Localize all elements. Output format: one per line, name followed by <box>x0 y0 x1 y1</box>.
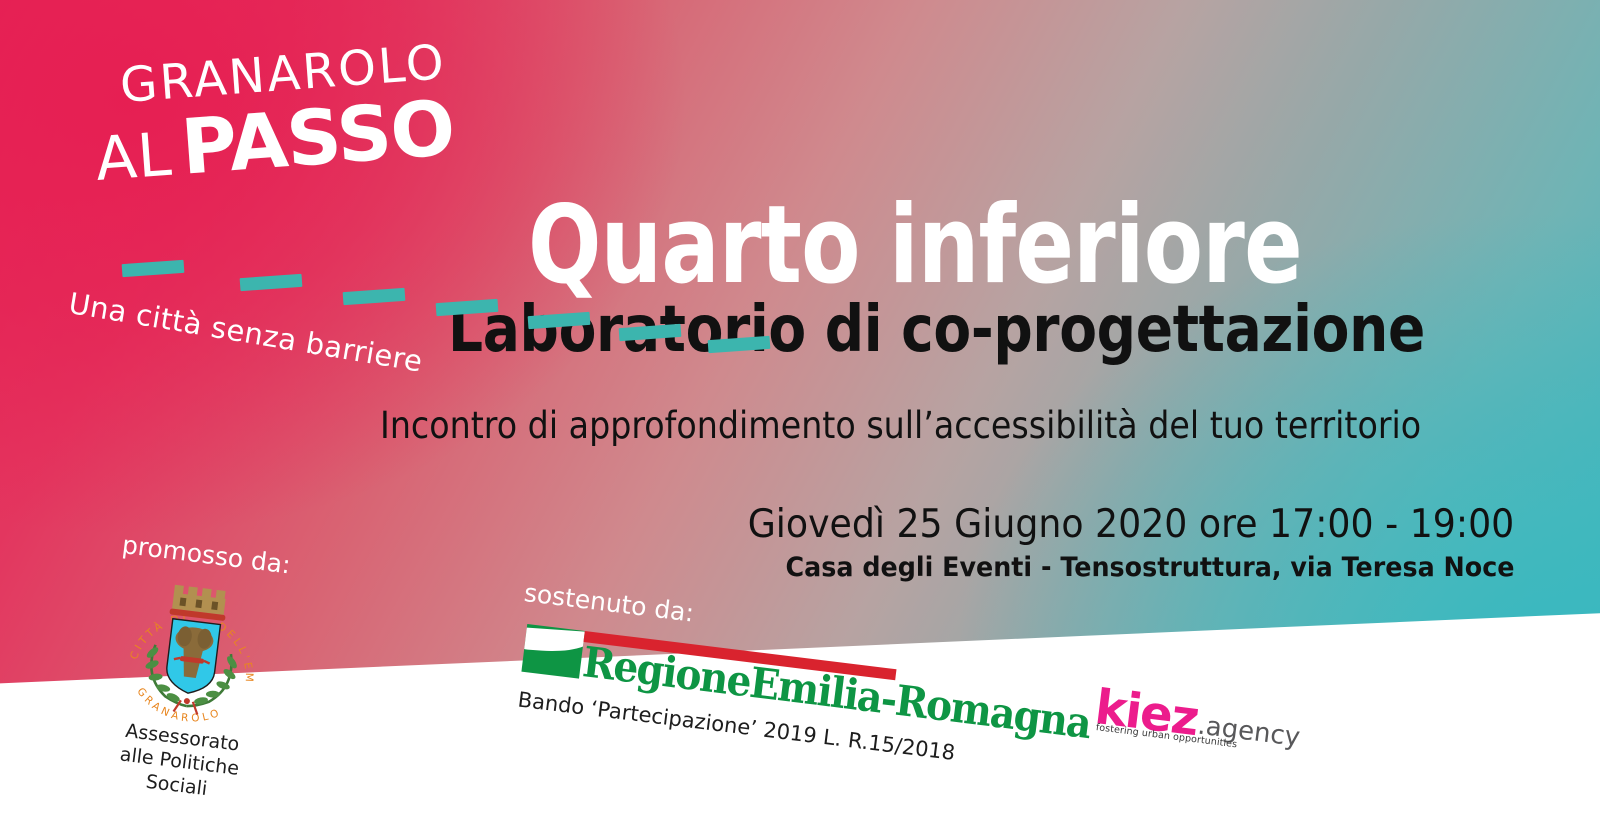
logo-word-al: AL <box>93 125 174 190</box>
event-poster: GRANAROLO AL PASSO Una città senza barri… <box>0 0 1600 840</box>
event-venue: Casa degli Eventi - Tensostruttura, via … <box>785 552 1514 583</box>
granarolo-al-passo-logo: GRANAROLO AL PASSO Una città senza barri… <box>64 62 484 192</box>
page-description: Incontro di approfondimento sull’accessi… <box>380 406 1421 447</box>
dash-3 <box>343 288 406 305</box>
event-datetime: Giovedì 25 Giugno 2020 ore 17:00 - 19:00 <box>747 502 1514 547</box>
page-title: Quarto inferiore <box>528 196 1302 295</box>
logo-dash-row <box>122 202 522 292</box>
dash-2 <box>240 274 303 291</box>
regione-green-square-icon <box>521 624 584 679</box>
comune-granarolo-logo: CITTÀ DI DELL'EMILIA GRANAROLO <box>81 567 291 840</box>
page-subtitle: Laboratorio di co-progettazione <box>448 298 1425 362</box>
coat-of-arms-icon: CITTÀ DI DELL'EMILIA GRANAROLO <box>94 567 291 738</box>
dash-1 <box>122 260 185 277</box>
logo-word-passo: PASSO <box>179 90 457 186</box>
